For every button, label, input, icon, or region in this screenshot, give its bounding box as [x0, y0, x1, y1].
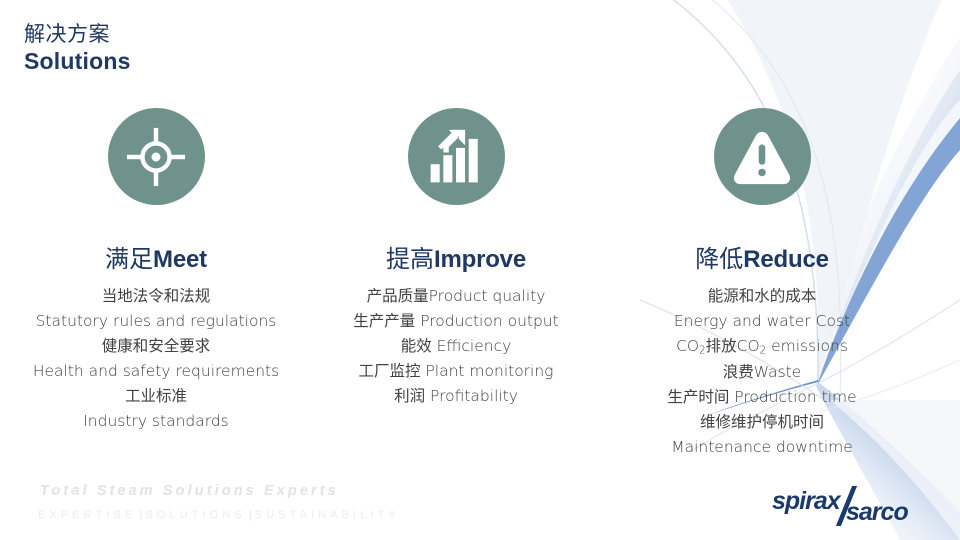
column-heading-reduce-english: Reduce: [743, 246, 829, 273]
list-item: 工业标准: [6, 384, 306, 409]
page-title: 解决方案 Solutions: [24, 22, 131, 75]
footer-pillar-separator: |: [246, 509, 255, 521]
slide-canvas: 解决方案 Solutions: [0, 0, 960, 540]
list-item: 生产产量 Production output: [306, 309, 606, 334]
column-improve: 提高Improve 产品质量Product quality 生产产量 Produ…: [306, 108, 606, 460]
footer-tagline: Total Steam Solutions Experts: [40, 483, 339, 499]
bar-chart-growth-icon: [408, 108, 505, 205]
list-item: Statutory rules and regulations: [6, 309, 306, 334]
column-heading-meet-english: Meet: [153, 246, 207, 273]
footer-pillar-separator: |: [136, 509, 145, 521]
page-title-chinese: 解决方案: [24, 22, 131, 47]
list-item: 工厂监控 Plant monitoring: [306, 359, 606, 384]
solutions-columns: 满足Meet 当地法令和法规 Statutory rules and regul…: [0, 108, 960, 460]
list-item: 生产时间 Production time: [612, 385, 912, 410]
footer-pillars: EXPERTISE|SOLUTIONS|SUSTAINABILITY: [38, 509, 400, 521]
list-item: 产品质量Product quality: [306, 284, 606, 309]
list-item: 当地法令和法规: [6, 284, 306, 309]
list-item: Health and safety requirements: [6, 359, 306, 384]
list-item: Energy and water Cost: [612, 309, 912, 334]
list-item: CO2排放CO2 emissions: [612, 334, 912, 360]
column-heading-improve-english: Improve: [434, 246, 526, 273]
warning-triangle-icon: [714, 108, 811, 205]
list-item: 能效 Efficiency: [306, 334, 606, 359]
target-crosshair-icon: [108, 108, 205, 205]
bullet-list-meet: 当地法令和法规 Statutory rules and regulations …: [6, 284, 306, 435]
column-meet: 满足Meet 当地法令和法规 Statutory rules and regul…: [6, 108, 306, 460]
column-heading-reduce: 降低Reduce: [612, 246, 912, 274]
list-item: Maintenance downtime: [612, 435, 912, 460]
footer-pillar-expertise: EXPERTISE: [38, 509, 136, 521]
bullet-list-improve: 产品质量Product quality 生产产量 Production outp…: [306, 284, 606, 410]
spirax-sarco-logo: spirax sarco: [772, 487, 944, 527]
list-item: 维修维护停机时间: [612, 410, 912, 435]
column-heading-improve-chinese: 提高: [386, 245, 434, 273]
column-heading-meet: 满足Meet: [6, 246, 306, 274]
footer-pillar-sustainability: SUSTAINABILITY: [255, 509, 400, 521]
logo-word-spirax: spirax: [772, 487, 840, 516]
footer-pillar-solutions: SOLUTIONS: [145, 509, 245, 521]
list-item: 健康和安全要求: [6, 334, 306, 359]
page-title-english: Solutions: [24, 47, 131, 75]
column-heading-improve: 提高Improve: [306, 246, 606, 274]
bullet-list-reduce: 能源和水的成本 Energy and water Cost CO2排放CO2 e…: [612, 284, 912, 460]
column-heading-reduce-chinese: 降低: [695, 245, 743, 273]
list-item: 浪费Waste: [612, 360, 912, 385]
list-item: 能源和水的成本: [612, 284, 912, 309]
list-item: 利润 Profitability: [306, 384, 606, 409]
column-reduce: 降低Reduce 能源和水的成本 Energy and water Cost C…: [612, 108, 912, 460]
list-item: Industry standards: [6, 409, 306, 434]
logo-word-sarco: sarco: [846, 498, 908, 527]
column-heading-meet-chinese: 满足: [105, 245, 153, 273]
